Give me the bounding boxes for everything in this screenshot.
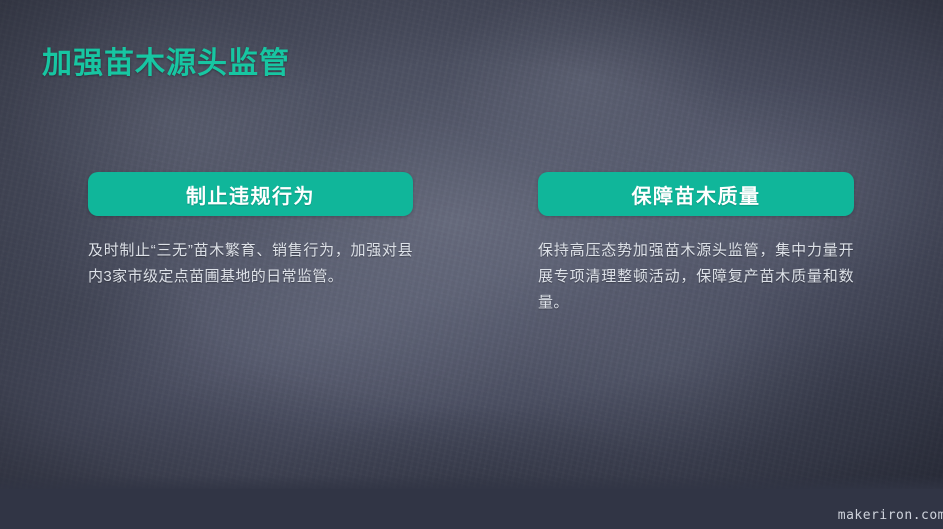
card-body-1: 及时制止“三无”苗木繁育、销售行为，加强对县内3家市级定点苗圃基地的日常监管。: [88, 238, 413, 290]
watermark-label: makeriron.com: [838, 508, 943, 523]
card-header-2[interactable]: 保障苗木质量: [538, 172, 854, 216]
slide-canvas: 加强苗木源头监管 制止违规行为 及时制止“三无”苗木繁育、销售行为，加强对县内3…: [0, 0, 943, 529]
content-column-1: 制止违规行为 及时制止“三无”苗木繁育、销售行为，加强对县内3家市级定点苗圃基地…: [88, 172, 413, 290]
card-header-label-1: 制止违规行为: [186, 180, 315, 209]
bottom-bar: [0, 489, 943, 529]
card-body-2: 保持高压态势加强苗木源头监管，集中力量开展专项清理整顿活动，保障复产苗木质量和数…: [538, 238, 854, 316]
page-title: 加强苗木源头监管: [42, 38, 290, 82]
content-column-2: 保障苗木质量 保持高压态势加强苗木源头监管，集中力量开展专项清理整顿活动，保障复…: [538, 172, 854, 316]
card-header-1[interactable]: 制止违规行为: [88, 172, 413, 216]
card-header-label-2: 保障苗木质量: [632, 180, 761, 209]
